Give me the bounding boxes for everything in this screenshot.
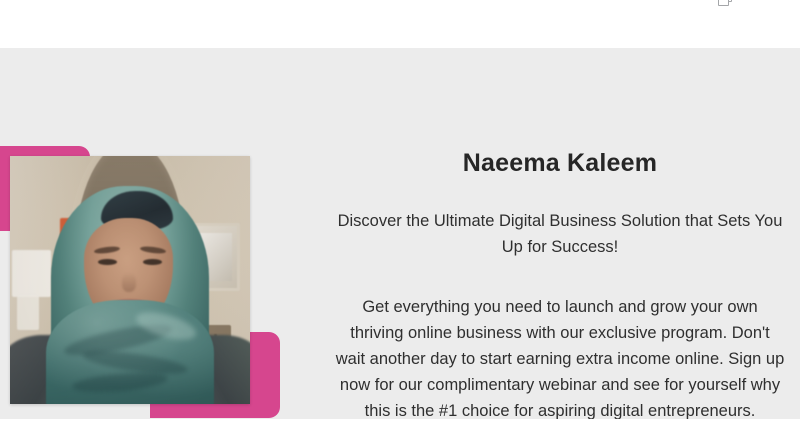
bottom-white-band	[0, 419, 800, 443]
profile-copy-block: Naeema Kaleem Discover the Ultimate Digi…	[335, 148, 785, 424]
tagline-text: Discover the Ultimate Digital Business S…	[335, 208, 785, 260]
restore-window-icon-front-square	[718, 0, 729, 6]
hero-section: Naeema Kaleem Discover the Ultimate Digi…	[0, 48, 800, 419]
top-white-band	[0, 0, 800, 48]
restore-window-icon[interactable]	[718, 0, 731, 6]
page-root: Naeema Kaleem Discover the Ultimate Digi…	[0, 0, 800, 443]
description-text: Get everything you need to launch and gr…	[335, 294, 785, 424]
page-title: Naeema Kaleem	[335, 148, 785, 178]
photo-vignette	[10, 156, 250, 404]
photo-scene	[10, 156, 250, 404]
profile-photo-block	[0, 100, 300, 420]
profile-photo	[10, 156, 250, 404]
